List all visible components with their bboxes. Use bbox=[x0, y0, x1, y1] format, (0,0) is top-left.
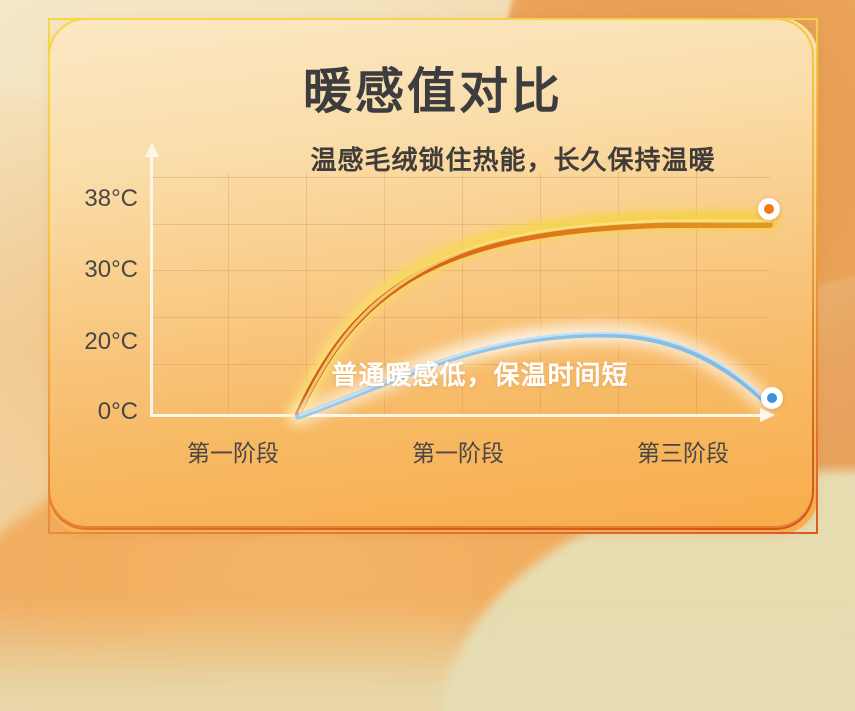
y-tick-label: 38°C bbox=[58, 185, 138, 213]
page-title: 暖感值对比 bbox=[50, 68, 816, 117]
warm-series-endpoint-marker bbox=[758, 198, 780, 220]
x-tick-label: 第一阶段 bbox=[153, 434, 313, 468]
cold-series-endpoint-marker bbox=[761, 387, 783, 409]
warm-series-annotation: 温感毛绒锁住热能，长久保持温暖 bbox=[150, 140, 818, 177]
cold-series-annotation: 普通暖感低，保温时间短 bbox=[150, 355, 770, 392]
promo-chart-page: 暖感值对比 38°C bbox=[0, 0, 855, 711]
cold-endpoint-dot bbox=[767, 393, 777, 403]
warm-endpoint-dot bbox=[764, 204, 774, 214]
y-tick-label: 30°C bbox=[58, 256, 138, 284]
chart-plot-area: 38°C 30°C 20°C 0°C bbox=[150, 142, 818, 442]
x-tick-label: 第三阶段 bbox=[603, 434, 763, 468]
x-tick-label: 第一阶段 bbox=[378, 434, 538, 468]
y-tick-label: 20°C bbox=[58, 328, 138, 356]
y-tick-label: 0°C bbox=[58, 398, 138, 426]
x-axis-tick-labels: 第一阶段 第一阶段 第三阶段 bbox=[150, 434, 775, 474]
background-floor bbox=[0, 600, 855, 711]
chart-card: 暖感值对比 38°C bbox=[48, 18, 818, 534]
chart-curves bbox=[144, 136, 818, 456]
